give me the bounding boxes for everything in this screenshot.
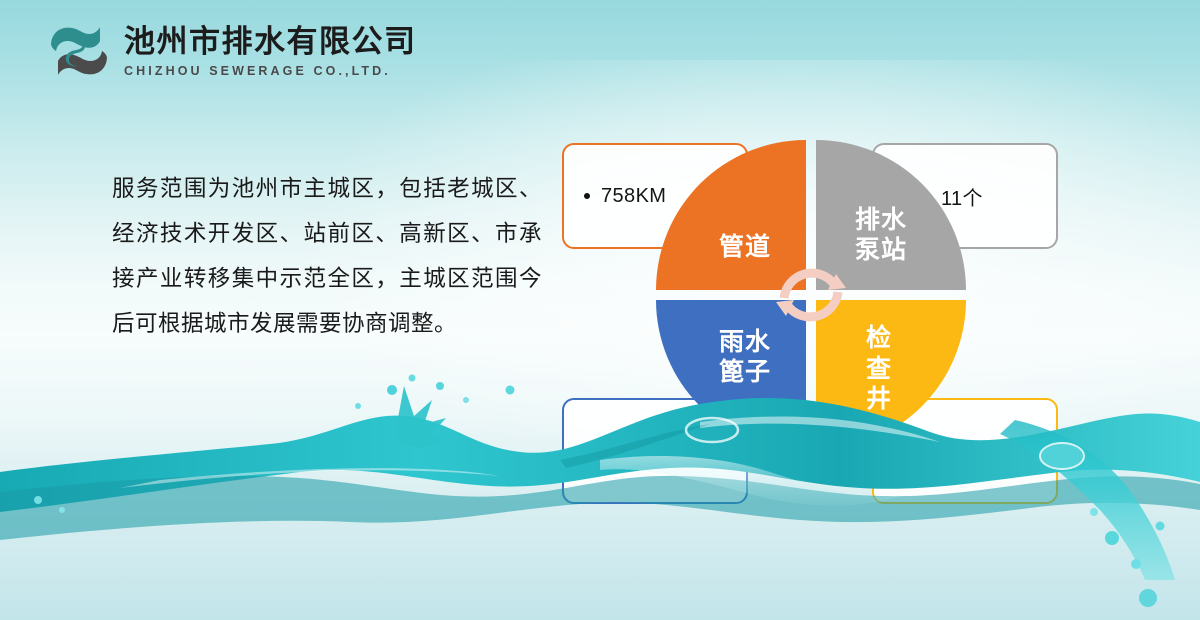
pie-segment-inspection-well-label: 检 查 井	[866, 323, 892, 415]
pie-segment-inspection-well[interactable]: 检 查 井	[816, 300, 966, 450]
company-logo: 池州市排水有限公司 CHIZHOU SEWERAGE CO.,LTD.	[48, 22, 417, 80]
logo-text: 池州市排水有限公司 CHIZHOU SEWERAGE CO.,LTD.	[124, 24, 417, 79]
pie-segment-storm-grate[interactable]: 雨水 篦子	[656, 300, 806, 450]
service-scope-paragraph: 服务范围为池州市主城区，包括老城区、经济技术开发区、站前区、高新区、市承接产业转…	[112, 166, 542, 346]
pie-segment-pipeline-label: 管道	[719, 232, 771, 263]
swoosh-s-logo-icon	[48, 22, 110, 80]
pie-segment-pump-station-label: 排水 泵站	[855, 205, 907, 266]
pie-segment-pump-station[interactable]: 排水 泵站	[816, 140, 966, 290]
four-segment-pie-chart: 管道 排水 泵站 雨水 篦子 检 查 井	[656, 140, 966, 450]
pie-segment-pipeline[interactable]: 管道	[656, 140, 806, 290]
pie-segment-storm-grate-label: 雨水 篦子	[719, 327, 771, 388]
company-name-cn: 池州市排水有限公司	[124, 24, 417, 60]
bullet-icon	[584, 448, 590, 454]
slide-canvas: 池州市排水有限公司 CHIZHOU SEWERAGE CO.,LTD. 服务范围…	[0, 0, 1200, 620]
bullet-icon	[584, 193, 590, 199]
company-name-en: CHIZHOU SEWERAGE CO.,LTD.	[124, 64, 417, 78]
